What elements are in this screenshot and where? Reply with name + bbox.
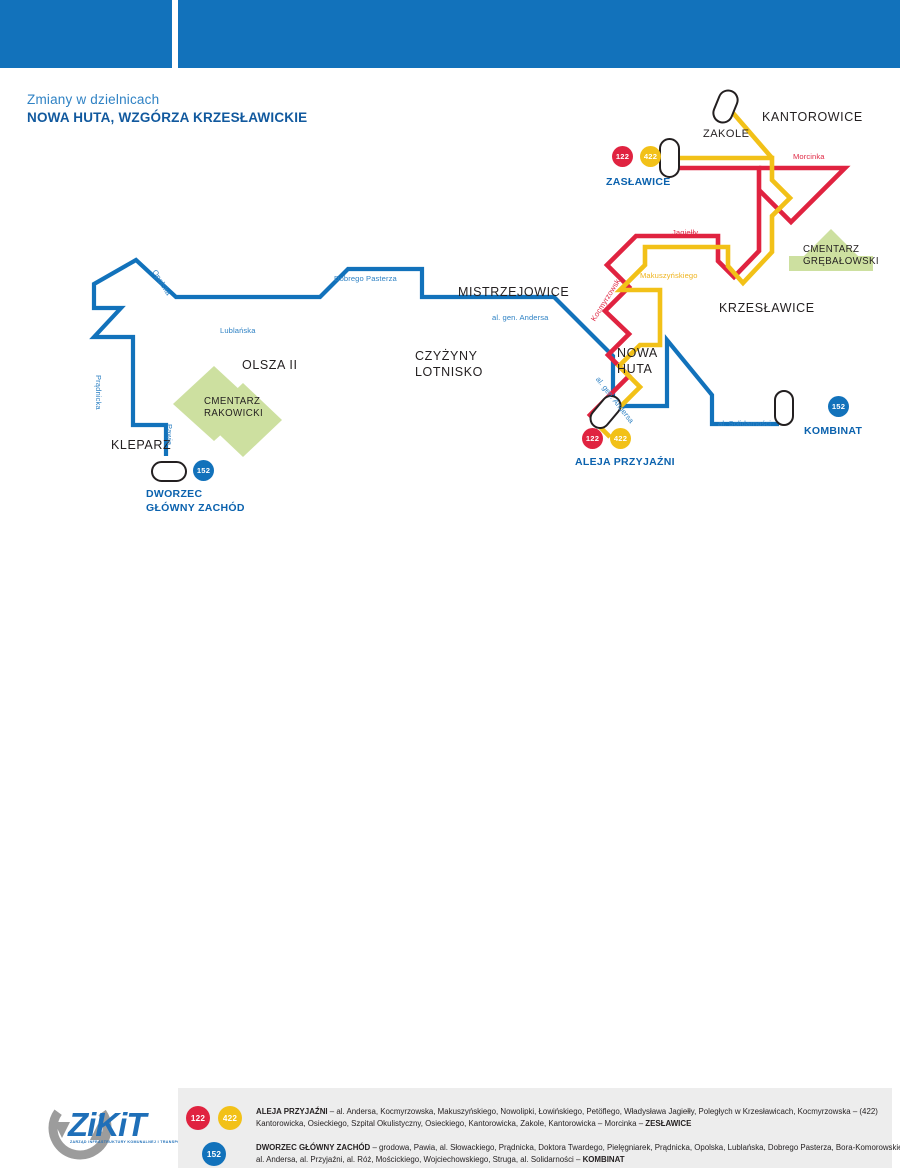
map-line-badge-422-aleja-przyjazni[interactable]: 422 — [610, 428, 631, 449]
district-label-kantorowice: KANTOROWICE — [762, 110, 863, 124]
street-label-lublanska: Lublańska — [220, 326, 256, 335]
zikit-wordmark: ZiKiT — [68, 1106, 145, 1144]
district-label-kleparz: KLEPARZ — [111, 438, 171, 452]
stop-marker-kombinat[interactable] — [775, 391, 793, 425]
legend-description-1: ALEJA PRZYJAŹNI – al. Andersa, Kocmyrzow… — [256, 1106, 900, 1129]
street-label-pawia: Pawia — [165, 424, 174, 445]
legend-title-2: DWORZEC GŁÓWNY ZACHÓD — [256, 1143, 370, 1152]
zikit-tagline: ZARZĄD INFRASTRUKTURY KOMUNALNEJ I TRANS… — [70, 1140, 189, 1144]
street-label-al-solidarnosci: al. Solidarności — [718, 419, 771, 428]
street-label-makuszynskiego: Makuszyńskiego — [640, 271, 698, 280]
legend-title-1: ALEJA PRZYJAŹNI — [256, 1107, 328, 1116]
legend-panel: 122 422 ALEJA PRZYJAŹNI – al. Andersa, K… — [178, 1088, 892, 1168]
map-line-badge-122-zaslawice[interactable]: 122 — [612, 146, 633, 167]
route-line-122 — [590, 168, 845, 425]
map-vector-layer — [0, 0, 900, 540]
street-label-jagielly: Jagiełły — [672, 228, 698, 237]
district-label-krzeslawice: KRZESŁAWICE — [719, 301, 815, 315]
legend-body-1: – al. Andersa, Kocmyrzowska, Makuszyński… — [256, 1107, 878, 1128]
map-line-badge-422-zaslawice[interactable]: 422 — [640, 146, 661, 167]
district-label-olsza-ii: OLSZA II — [242, 358, 298, 372]
legend-description-2: DWORZEC GŁÓWNY ZACHÓD – grodowa, Pawia, … — [256, 1142, 900, 1165]
stop-marker-dworzec-glowny-zachod[interactable] — [152, 462, 186, 481]
district-label-czyzyny-lotnisko: CZYŻYNY LOTNISKO — [415, 348, 487, 380]
stop-label-aleja-przyjazni: ALEJA PRZYJAŹNI — [575, 456, 675, 468]
stop-label-dworzec-glowny-zachod: DWORZEC GŁÓWNY ZACHÓD — [146, 487, 250, 515]
street-label-al-gen-andersa: al. gen. Andersa — [492, 313, 548, 322]
legend-badge-422[interactable]: 422 — [218, 1106, 242, 1130]
street-label-dobrego-pasterza: Dobrego Pasterza — [334, 274, 397, 283]
legend-badge-152[interactable]: 152 — [202, 1142, 226, 1166]
footer: ZiKiT ZARZĄD INFRASTRUKTURY KOMUNALNEJ I… — [0, 540, 900, 636]
legend-dest-1: ZESŁAWICE — [645, 1119, 691, 1128]
legend-badge-122[interactable]: 122 — [186, 1106, 210, 1130]
district-label-nowa-huta: NOWA HUTA — [617, 345, 661, 377]
zikit-logo: ZiKiT ZARZĄD INFRASTRUKTURY KOMUNALNEJ I… — [28, 1092, 168, 1164]
map-line-badge-152-dworzec[interactable]: 152 — [193, 460, 214, 481]
stop-marker-zaslawice[interactable] — [660, 139, 679, 177]
area-label-cmentarz-grebalowski: CMENTARZ GRĘBAŁOWSKI — [803, 244, 893, 268]
street-label-pradnicka: Prądnicka — [94, 375, 103, 410]
transit-map: KANTOROWICE CMENTARZ GRĘBAŁOWSKI KRZESŁA… — [0, 0, 900, 540]
legend-dest-2: KOMBINAT — [583, 1155, 625, 1164]
area-label-cmentarz-rakowicki: CMENTARZ RAKOWICKI — [204, 396, 276, 420]
street-label-morcinka: Morcinka — [793, 152, 825, 161]
map-line-badge-152-kombinat[interactable]: 152 — [828, 396, 849, 417]
district-label-mistrzejowice: MISTRZEJOWICE — [458, 285, 569, 299]
stop-label-zaslawice: ZASŁAWICE — [606, 176, 671, 188]
stop-label-zakole: ZAKOLE — [703, 128, 749, 140]
stop-label-kombinat: KOMBINAT — [804, 425, 862, 437]
map-line-badge-122-aleja-przyjazni[interactable]: 122 — [582, 428, 603, 449]
